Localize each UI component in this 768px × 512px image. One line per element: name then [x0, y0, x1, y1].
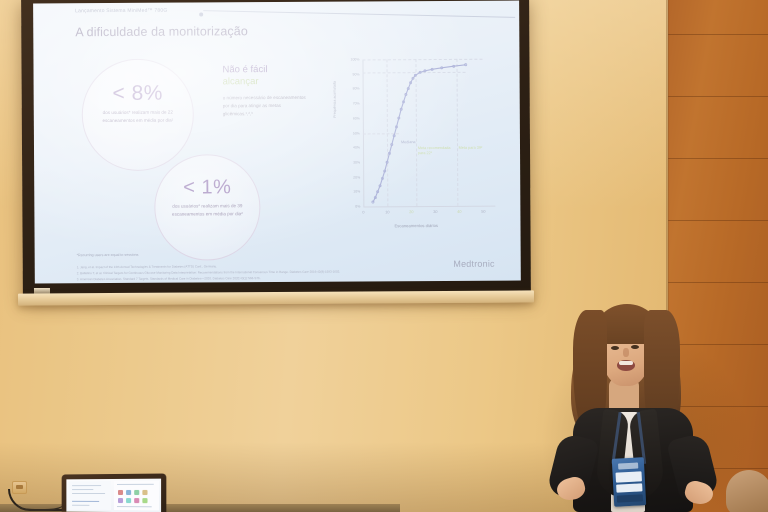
badge-role-strip: [616, 483, 642, 492]
wood-slat: [668, 34, 768, 35]
headline-line-2: alcançar: [223, 77, 309, 88]
wood-slat: [668, 282, 768, 283]
projection-screen-surface: Lançamento Sistema MiniMed™ 780G A dific…: [33, 1, 521, 284]
slide-rule-dot: [199, 12, 203, 16]
footnote-header: *Recurring users are equal to sessions: [77, 253, 139, 257]
stat-value: < 1%: [155, 176, 259, 200]
slide-title: A dificuldade da monitorização: [75, 24, 248, 39]
headline-line-1: Não é fácil: [223, 65, 309, 76]
medtronic-logo: Medtronic: [453, 259, 494, 269]
headline-body: o número necessário de escaneamentos por…: [223, 94, 309, 119]
presenter: [545, 300, 745, 512]
footnote-3: 3. American Diabetes Association. Standa…: [77, 276, 261, 281]
eye-left: [611, 346, 619, 350]
slide-kicker: Lançamento Sistema MiniMed™ 780G: [75, 8, 167, 15]
stat-caption: dos usuários* realizam mais de 22 escane…: [83, 106, 193, 125]
background-attendee-head: [726, 470, 768, 512]
eye-right: [631, 345, 639, 349]
chart-annotation: Meta recomendada para 22¹: [418, 146, 452, 158]
stat-bubble-8-percent: < 8% dos usuários* realizam mais de 22 e…: [81, 59, 194, 172]
laptop-lid: [62, 473, 167, 512]
chart-data-point: [465, 64, 467, 66]
laptop-pane-right: [114, 481, 159, 511]
badge-footer-strip: [617, 494, 643, 502]
badge-logo: [618, 463, 638, 470]
chart-annotation: Meta para 39²: [459, 145, 493, 151]
projection-screen-frame: Lançamento Sistema MiniMed™ 780G A dific…: [21, 0, 531, 300]
nose: [623, 348, 629, 357]
footnote-1: 1. Jang, et al. Impact of the 13th Annua…: [77, 264, 217, 269]
wood-slat: [668, 220, 768, 221]
power-cable-loop: [16, 493, 64, 511]
slide-content: Lançamento Sistema MiniMed™ 780G A dific…: [33, 1, 521, 284]
laptop-screen[interactable]: [66, 479, 161, 512]
stat-bubble-1-percent: < 1% dos usuários* realizam mais de 39 e…: [154, 154, 261, 261]
slide-rule: [203, 10, 515, 18]
presenter-laptop[interactable]: [60, 474, 168, 512]
wood-slat: [668, 96, 768, 97]
stat-caption: dos usuários* realizam mais de 39 escane…: [155, 199, 259, 218]
badge-name-strip: [615, 471, 641, 482]
teeth: [619, 361, 633, 365]
conference-badge: [612, 457, 646, 507]
footnote-2: 2. Battelino T, et al. Clinical Targets …: [77, 270, 340, 276]
laptop-pane-left: [68, 481, 111, 510]
cumulative-frequency-chart: Frequência acumulada Escaneamentos diári…: [333, 50, 520, 241]
stat-value: < 8%: [83, 82, 193, 107]
wood-slat: [668, 158, 768, 159]
slide-headline-block: Não é fácil alcançar o número necessário…: [223, 65, 309, 119]
scene-root: Lançamento Sistema MiniMed™ 780G A dific…: [0, 0, 768, 512]
